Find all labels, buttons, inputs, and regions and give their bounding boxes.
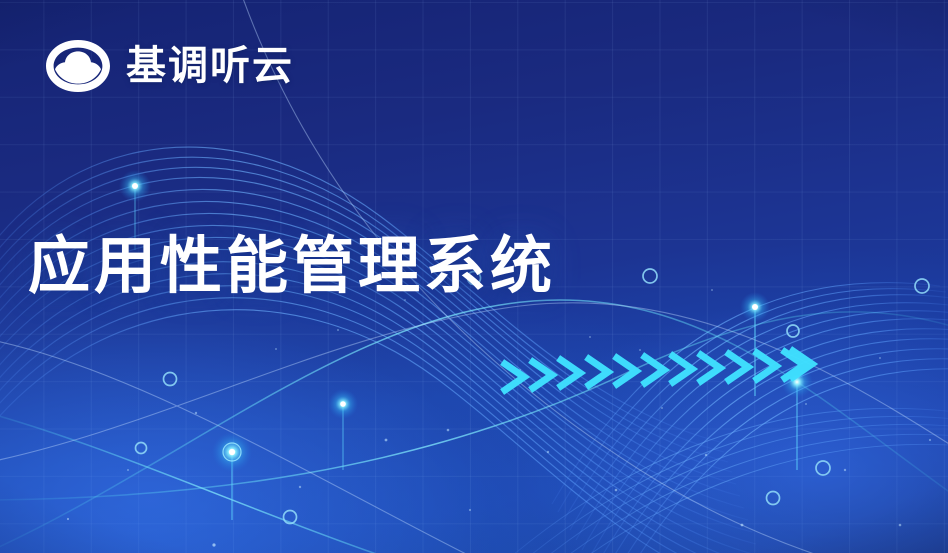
cloud-in-ellipse-icon <box>44 38 112 94</box>
page-title: 应用性能管理系统 <box>28 232 556 301</box>
brand-logo[interactable]: 基调听云 <box>44 38 294 94</box>
banner-canvas: 基调听云 应用性能管理系统 <box>0 0 948 553</box>
brand-wordmark: 基调听云 <box>126 46 294 86</box>
